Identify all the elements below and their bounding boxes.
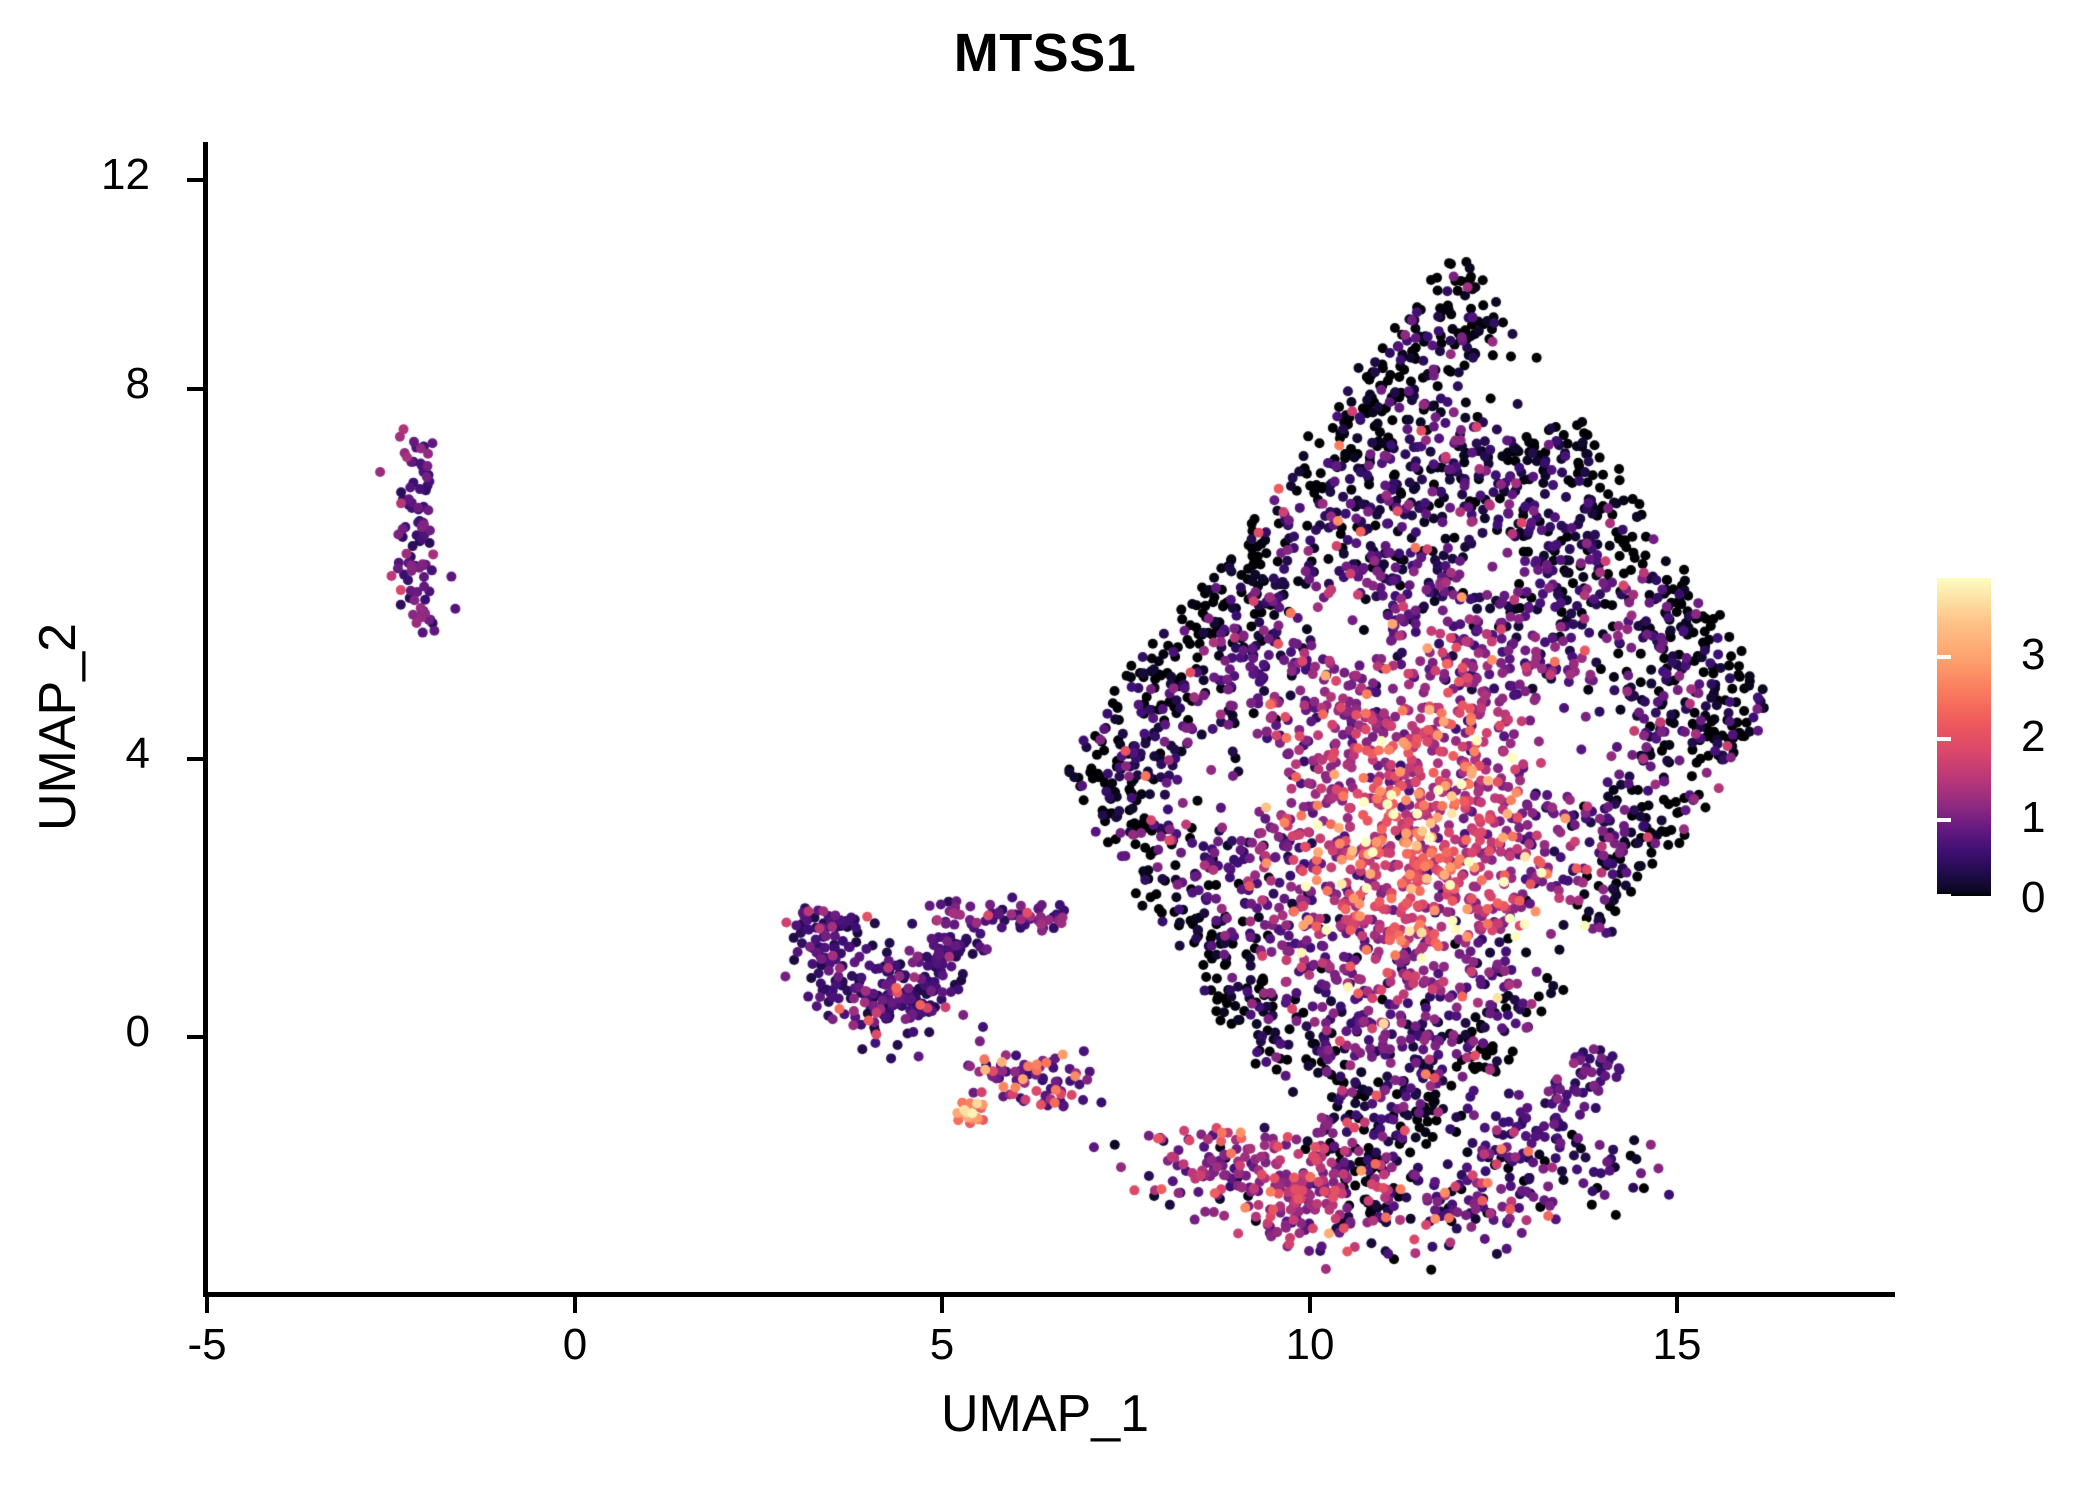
colorbar-tick-0-left (1937, 894, 1951, 898)
y-tick-label-0: 0 (40, 1007, 150, 1057)
x-tick-label-15: 15 (1607, 1320, 1747, 1370)
y-axis-line (203, 142, 208, 1297)
x-tick-mark-5 (940, 1297, 944, 1313)
y-tick-mark-8 (187, 387, 203, 391)
x-tick-mark-10 (1308, 1297, 1312, 1313)
colorbar-label-1: 1 (2021, 793, 2045, 843)
colorbar-tick-3-left (1937, 655, 1951, 659)
y-tick-label-12: 12 (40, 150, 150, 200)
colorbar-tick-3-right (1923, 655, 1937, 659)
y-tick-mark-0 (187, 1035, 203, 1039)
y-tick-mark-12 (187, 178, 203, 182)
colorbar-tick-1-right (1923, 818, 1937, 822)
x-tick-label-10: 10 (1240, 1320, 1380, 1370)
x-tick-mark-15 (1675, 1297, 1679, 1313)
colorbar-tick-1-left (1937, 818, 1951, 822)
x-tick-mark-0 (573, 1297, 577, 1313)
colorbar-tick-2-left (1937, 737, 1951, 741)
scatter-points-layer (207, 142, 1893, 1294)
y-tick-mark-4 (187, 757, 203, 761)
colorbar-label-2: 2 (2021, 712, 2045, 762)
colorbar-label-0: 0 (2021, 873, 2045, 923)
x-tick-label-0: 0 (505, 1320, 645, 1370)
plot-panel (207, 142, 1893, 1294)
x-tick-mark-m5 (205, 1297, 209, 1313)
y-tick-label-8: 8 (40, 359, 150, 409)
page-title: MTSS1 (0, 22, 2095, 84)
x-axis-line (203, 1292, 1895, 1297)
umap-feature-plot: MTSS1 12 8 4 0 -5 0 5 10 15 UMAP_1 UMAP_… (0, 0, 2100, 1500)
colorbar-tick-2-right (1923, 737, 1937, 741)
x-axis-title: UMAP_1 (0, 1384, 2095, 1444)
x-tick-label-m5: -5 (137, 1320, 277, 1370)
x-tick-label-5: 5 (872, 1320, 1012, 1370)
y-axis-title: UMAP_2 (28, 447, 88, 1007)
colorbar-label-3: 3 (2021, 630, 2045, 680)
colorbar-tick-0-right (1923, 894, 1937, 898)
